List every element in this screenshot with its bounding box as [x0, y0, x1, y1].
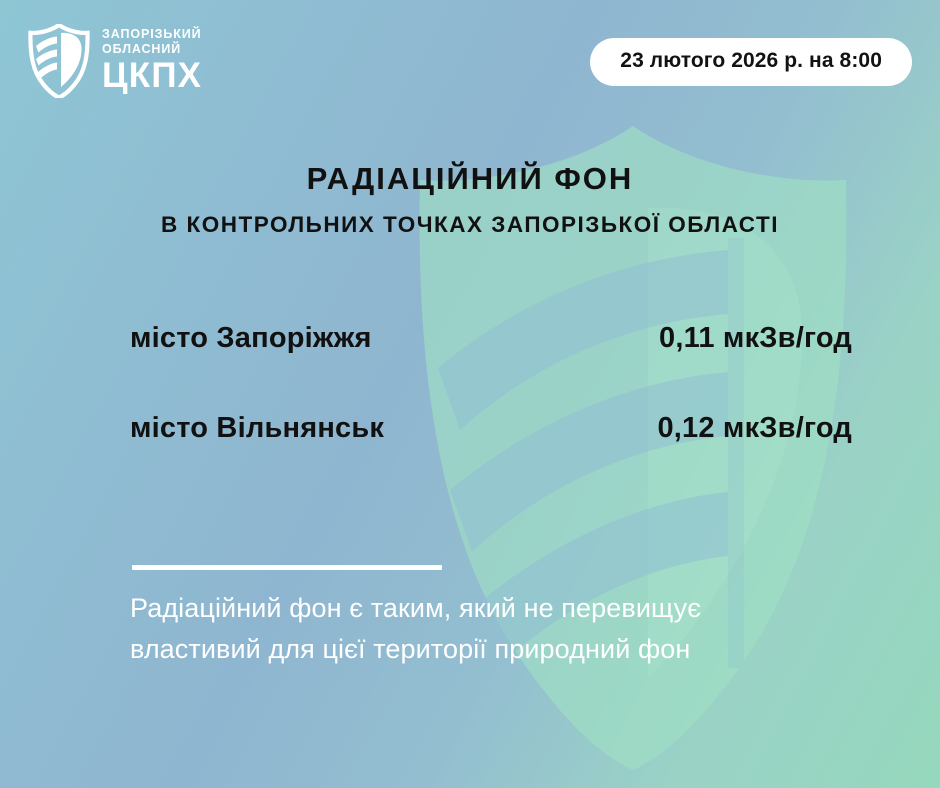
brand-line-1: ЗАПОРІЗЬКИЙ [102, 28, 202, 41]
brand-acronym: ЦКПХ [102, 58, 202, 95]
page-title: РАДІАЦІЙНИЙ ФОН [0, 160, 940, 197]
page-subtitle: В КОНТРОЛЬНИХ ТОЧКАХ ЗАПОРІЗЬКОЇ ОБЛАСТІ [0, 211, 940, 238]
reading-location: місто Вільнянськ [130, 412, 384, 445]
reading-location: місто Запоріжжя [130, 322, 372, 355]
footnote: Радіаційний фон є таким, який не перевищ… [130, 588, 870, 670]
brand-text: ЗАПОРІЗЬКИЙ ОБЛАСНИЙ ЦКПХ [102, 28, 202, 95]
footnote-line-1: Радіаційний фон є таким, який не перевищ… [130, 588, 870, 629]
footnote-line-2: властивий для цієї території природний ф… [130, 629, 870, 670]
reading-row: місто Вільнянськ 0,12 мкЗв/год [130, 412, 852, 474]
shield-logo-icon [28, 24, 90, 98]
brand-logo: ЗАПОРІЗЬКИЙ ОБЛАСНИЙ ЦКПХ [28, 24, 202, 98]
brand-line-2: ОБЛАСНИЙ [102, 43, 202, 56]
date-badge: 23 лютого 2026 р. на 8:00 [590, 38, 912, 86]
reading-value: 0,12 мкЗв/год [657, 412, 852, 445]
footnote-divider [132, 565, 442, 570]
reading-row: місто Запоріжжя 0,11 мкЗв/год [130, 322, 852, 384]
page-title-block: РАДІАЦІЙНИЙ ФОН В КОНТРОЛЬНИХ ТОЧКАХ ЗАП… [0, 160, 940, 238]
radiation-background-poster: ЗАПОРІЗЬКИЙ ОБЛАСНИЙ ЦКПХ 23 лютого 2026… [0, 0, 940, 788]
readings-list: місто Запоріжжя 0,11 мкЗв/год місто Віль… [130, 322, 852, 474]
reading-value: 0,11 мкЗв/год [659, 322, 852, 355]
